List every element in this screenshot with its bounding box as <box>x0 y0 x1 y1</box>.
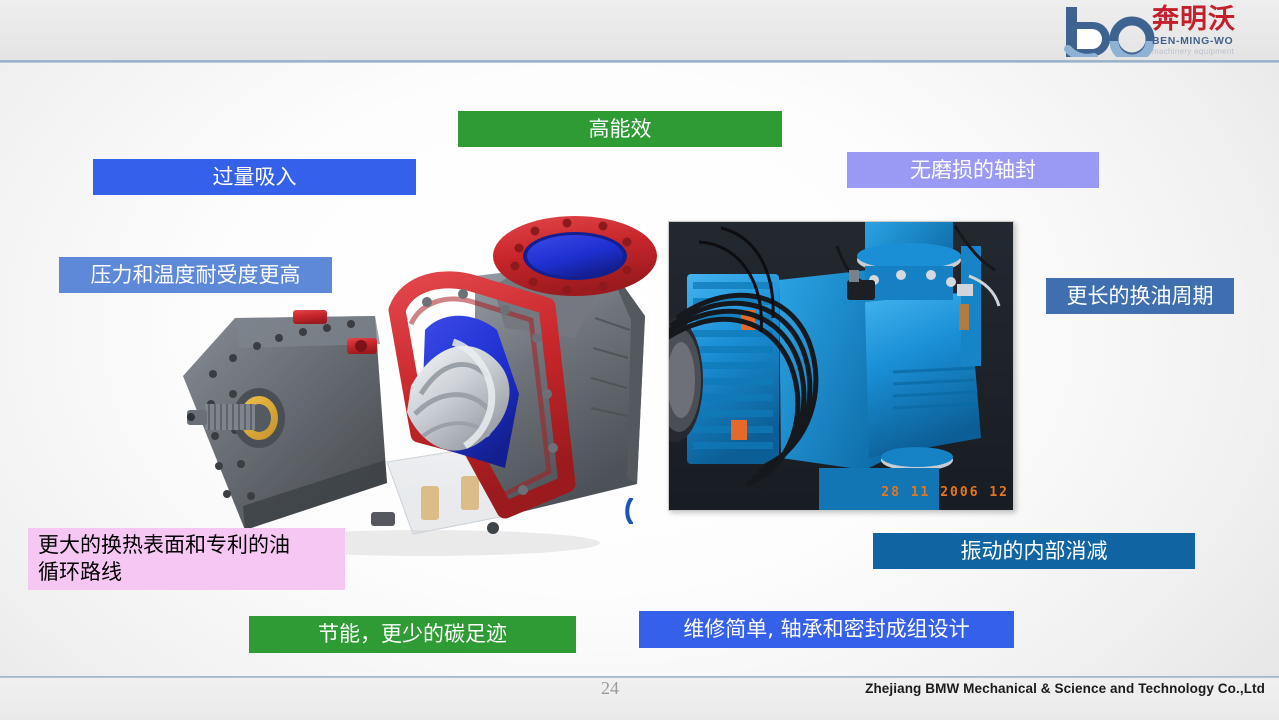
logo-english-name: BEN-MING-WO <box>1152 35 1274 47</box>
callout-wear-free-shaft-seal[interactable]: 无磨损的轴封 <box>847 152 1099 188</box>
logo-chinese-name: 奔明沃 <box>1152 5 1274 35</box>
logo-text-block: 奔明沃 BEN-MING-WO machinery equipment <box>1152 3 1274 61</box>
slide-canvas: 奔明沃 BEN-MING-WO machinery equipment <box>0 0 1279 720</box>
blue-compressor-photo: 28 11 2006 12 <box>668 221 1014 511</box>
footer-company-name: Zhejiang BMW Mechanical & Science and Te… <box>865 681 1265 696</box>
stray-logo-fragment-icon <box>624 498 636 524</box>
callout-internal-vibration-reduction[interactable]: 振动的内部消减 <box>873 533 1195 569</box>
callout-over-suction[interactable]: 过量吸入 <box>93 159 416 195</box>
logo-tagline: machinery equipment <box>1152 47 1274 57</box>
callout-larger-heat-exchange-surface[interactable]: 更大的换热表面和专利的油 循环路线 <box>28 528 345 590</box>
photo-timestamp: 28 11 2006 12 <box>881 485 1009 500</box>
callout-easy-maintenance-bearing-seal[interactable]: 维修简单, 轴承和密封成组设计 <box>639 611 1014 648</box>
callout-higher-pressure-temperature-tolerance[interactable]: 压力和温度耐受度更高 <box>59 257 332 293</box>
callout-high-efficiency[interactable]: 高能效 <box>458 111 782 147</box>
company-logo: 奔明沃 BEN-MING-WO machinery equipment <box>1062 3 1274 61</box>
screw-compressor-cutaway-render <box>175 198 675 568</box>
bo-monogram-icon <box>1062 7 1158 57</box>
callout-longer-oil-change-interval[interactable]: 更长的换油周期 <box>1046 278 1234 314</box>
callout-energy-saving-lower-carbon[interactable]: 节能，更少的碳足迹 <box>249 616 576 653</box>
